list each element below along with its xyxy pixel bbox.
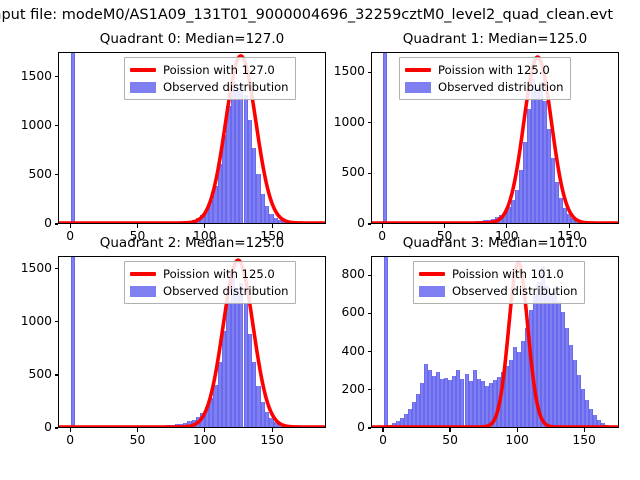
- x-tick-mark: [584, 428, 585, 432]
- y-tick-mark: [55, 76, 59, 77]
- y-tick-mark: [55, 223, 59, 224]
- legend-quadrant-0: Poission with 127.0 Observed distributio…: [124, 57, 296, 100]
- y-tick-label: 0: [44, 216, 52, 230]
- y-tick-label: 0: [357, 420, 365, 434]
- y-tick-mark: [55, 427, 59, 428]
- patch-swatch-icon: [130, 82, 156, 93]
- y-tick-mark: [368, 223, 372, 224]
- y-tick-label: 1500: [21, 69, 52, 83]
- y-tick-mark: [55, 125, 59, 126]
- x-tick-mark: [137, 224, 138, 228]
- y-tick-label: 400: [342, 344, 365, 358]
- legend-label-poisson: Poission with 127.0: [163, 63, 275, 77]
- legend-label-observed: Observed distribution: [438, 80, 564, 94]
- y-tick-label: 1000: [21, 118, 52, 132]
- legend-entry-observed: Observed distribution: [130, 283, 289, 299]
- subplot-quadrant-3: Quadrant 3: Median=101.0 Poission with 1…: [371, 256, 619, 428]
- y-tick-mark: [368, 427, 372, 428]
- y-tick-label: 200: [342, 382, 365, 396]
- y-tick-mark: [55, 268, 59, 269]
- x-tick-mark: [70, 428, 71, 432]
- y-tick-mark: [368, 389, 372, 390]
- x-tick-label: 50: [130, 433, 146, 447]
- figure-suptitle: Input file: modeM0/AS1A09_131T01_9000004…: [0, 4, 640, 26]
- legend-label-observed: Observed distribution: [452, 284, 578, 298]
- x-tick-mark: [204, 428, 205, 432]
- x-tick-label: 100: [505, 433, 528, 447]
- line-swatch-icon: [405, 68, 431, 71]
- matplotlib-figure: Input file: modeM0/AS1A09_131T01_9000004…: [0, 0, 640, 480]
- x-tick-label: 0: [379, 433, 387, 447]
- x-tick-label: 100: [193, 433, 216, 447]
- y-tick-label: 800: [342, 267, 365, 281]
- subplot-quadrant-0: Quadrant 0: Median=127.0 Poission with 1…: [58, 52, 326, 224]
- y-tick-label: 0: [357, 216, 365, 230]
- patch-swatch-icon: [419, 286, 445, 297]
- x-tick-mark: [382, 224, 383, 228]
- x-tick-mark: [137, 428, 138, 432]
- legend-entry-poisson: Poission with 127.0: [130, 62, 289, 78]
- subplot-title-quadrant-3: Quadrant 3: Median=101.0: [371, 235, 619, 251]
- y-tick-mark: [368, 351, 372, 352]
- x-tick-mark: [272, 428, 273, 432]
- y-tick-label: 500: [342, 165, 365, 179]
- legend-label-poisson: Poission with 101.0: [452, 267, 564, 281]
- patch-swatch-icon: [130, 286, 156, 297]
- y-tick-label: 1000: [21, 314, 52, 328]
- y-tick-label: 1500: [21, 261, 52, 275]
- suptitle-text: Input file: modeM0/AS1A09_131T01_9000004…: [0, 4, 613, 26]
- x-tick-mark: [444, 224, 445, 228]
- y-tick-mark: [368, 275, 372, 276]
- y-tick-label: 500: [29, 367, 52, 381]
- x-tick-mark: [569, 224, 570, 228]
- subplot-title-quadrant-0: Quadrant 0: Median=127.0: [58, 31, 326, 47]
- x-tick-mark: [517, 428, 518, 432]
- x-tick-mark: [204, 224, 205, 228]
- legend-entry-observed: Observed distribution: [130, 79, 289, 95]
- subplot-quadrant-1: Quadrant 1: Median=125.0 Poission with 1…: [371, 52, 619, 224]
- legend-entry-poisson: Poission with 125.0: [405, 62, 564, 78]
- y-tick-mark: [55, 321, 59, 322]
- x-tick-mark: [382, 428, 383, 432]
- x-tick-label: 150: [572, 433, 595, 447]
- y-tick-label: 1000: [334, 115, 365, 129]
- legend-label-observed: Observed distribution: [163, 80, 289, 94]
- y-tick-label: 500: [29, 167, 52, 181]
- line-swatch-icon: [130, 272, 156, 275]
- y-tick-mark: [55, 374, 59, 375]
- subplot-title-quadrant-2: Quadrant 2: Median=125.0: [58, 235, 326, 251]
- y-tick-mark: [55, 174, 59, 175]
- legend-label-poisson: Poission with 125.0: [163, 267, 275, 281]
- y-tick-mark: [368, 173, 372, 174]
- x-tick-label: 50: [442, 433, 458, 447]
- y-tick-label: 0: [44, 420, 52, 434]
- x-tick-label: 0: [66, 433, 74, 447]
- patch-swatch-icon: [405, 82, 431, 93]
- x-tick-label: 150: [260, 433, 283, 447]
- x-tick-mark: [449, 428, 450, 432]
- legend-entry-poisson: Poission with 101.0: [419, 266, 578, 282]
- subplot-quadrant-2: Quadrant 2: Median=125.0 Poission with 1…: [58, 256, 326, 428]
- legend-label-observed: Observed distribution: [163, 284, 289, 298]
- legend-quadrant-3: Poission with 101.0 Observed distributio…: [413, 261, 585, 304]
- line-swatch-icon: [130, 68, 156, 71]
- legend-entry-observed: Observed distribution: [405, 79, 564, 95]
- y-tick-label: 1500: [334, 64, 365, 78]
- y-tick-mark: [368, 122, 372, 123]
- line-swatch-icon: [419, 272, 445, 275]
- subplot-title-quadrant-1: Quadrant 1: Median=125.0: [371, 31, 619, 47]
- y-tick-mark: [368, 313, 372, 314]
- y-tick-label: 600: [342, 305, 365, 319]
- x-tick-mark: [70, 224, 71, 228]
- legend-entry-observed: Observed distribution: [419, 283, 578, 299]
- y-tick-mark: [368, 72, 372, 73]
- x-tick-mark: [506, 224, 507, 228]
- legend-entry-poisson: Poission with 125.0: [130, 266, 289, 282]
- legend-quadrant-1: Poission with 125.0 Observed distributio…: [399, 57, 571, 100]
- x-tick-mark: [272, 224, 273, 228]
- legend-label-poisson: Poission with 125.0: [438, 63, 550, 77]
- legend-quadrant-2: Poission with 125.0 Observed distributio…: [124, 261, 296, 304]
